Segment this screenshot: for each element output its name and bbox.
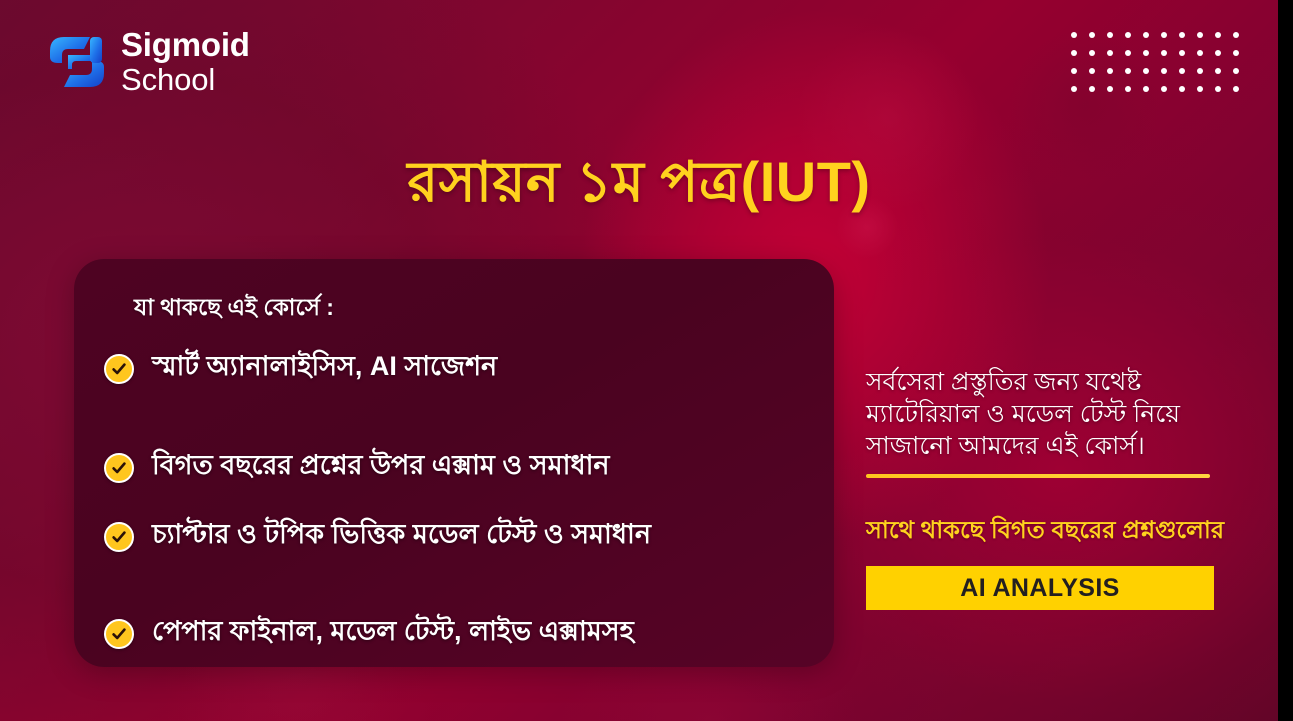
features-card-heading: যা থাকছে এই কোর্সে : bbox=[134, 289, 804, 328]
features-list: স্মার্ট অ্যানালাইসিস, AI সাজেশন বিগত বছর… bbox=[104, 346, 804, 656]
promo-panel: সর্বসেরা প্রস্তুতির জন্য যথেষ্ট ম্যাটেরি… bbox=[866, 366, 1216, 610]
gold-divider bbox=[866, 474, 1210, 478]
promo-subheadline: সাথে থাকছে বিগত বছরের প্রশ্নগুলোর bbox=[866, 512, 1216, 552]
list-item: পেপার ফাইনাল, মডেল টেস্ট, লাইভ এক্সামসহ bbox=[104, 611, 804, 656]
feature-label: চ্যাপ্টার ও টপিক ভিত্তিক মডেল টেস্ট ও সম… bbox=[152, 514, 651, 559]
features-card: যা থাকছে এই কোর্সে : স্মার্ট অ্যানালাইসি… bbox=[74, 259, 834, 667]
sigmoid-s-mark-icon bbox=[46, 31, 108, 93]
promo-line-2: ম্যাটেরিয়াল ও মডেল টেস্ট নিয়ে bbox=[866, 398, 1216, 430]
page-title: রসায়ন ১ম পত্র(IUT) bbox=[0, 139, 1278, 233]
check-circle-icon bbox=[104, 354, 134, 384]
promo-line-3: সাজানো আমদের এই কোর্স। bbox=[866, 430, 1216, 462]
brand-line-2: School bbox=[121, 64, 250, 95]
list-item: বিগত বছরের প্রশ্নের উপর এক্সাম ও সমাধান bbox=[104, 445, 804, 490]
check-circle-icon bbox=[104, 522, 134, 552]
check-circle-icon bbox=[104, 619, 134, 649]
feature-label: স্মার্ট অ্যানালাইসিস, AI সাজেশন bbox=[152, 346, 497, 391]
check-circle-icon bbox=[104, 453, 134, 483]
dot-grid-icon bbox=[1071, 32, 1251, 104]
feature-label: পেপার ফাইনাল, মডেল টেস্ট, লাইভ এক্সামসহ bbox=[152, 611, 634, 656]
right-black-bar bbox=[1278, 0, 1293, 721]
brand-line-1: Sigmoid bbox=[121, 28, 250, 61]
list-item: স্মার্ট অ্যানালাইসিস, AI সাজেশন bbox=[104, 346, 804, 391]
promo-line-1: সর্বসেরা প্রস্তুতির জন্য যথেষ্ট bbox=[866, 366, 1216, 398]
feature-label: বিগত বছরের প্রশ্নের উপর এক্সাম ও সমাধান bbox=[152, 445, 610, 490]
brand-logo[interactable]: Sigmoid School bbox=[46, 28, 250, 95]
promo-paragraph: সর্বসেরা প্রস্তুতির জন্য যথেষ্ট ম্যাটেরি… bbox=[866, 366, 1216, 462]
poster-canvas: Sigmoid School রসায়ন ১ম পত্র(IUT) যা থা… bbox=[0, 0, 1293, 721]
list-item: চ্যাপ্টার ও টপিক ভিত্তিক মডেল টেস্ট ও সম… bbox=[104, 514, 804, 559]
ai-analysis-button[interactable]: AI ANALYSIS bbox=[866, 566, 1214, 610]
brand-wordmark: Sigmoid School bbox=[121, 28, 250, 95]
